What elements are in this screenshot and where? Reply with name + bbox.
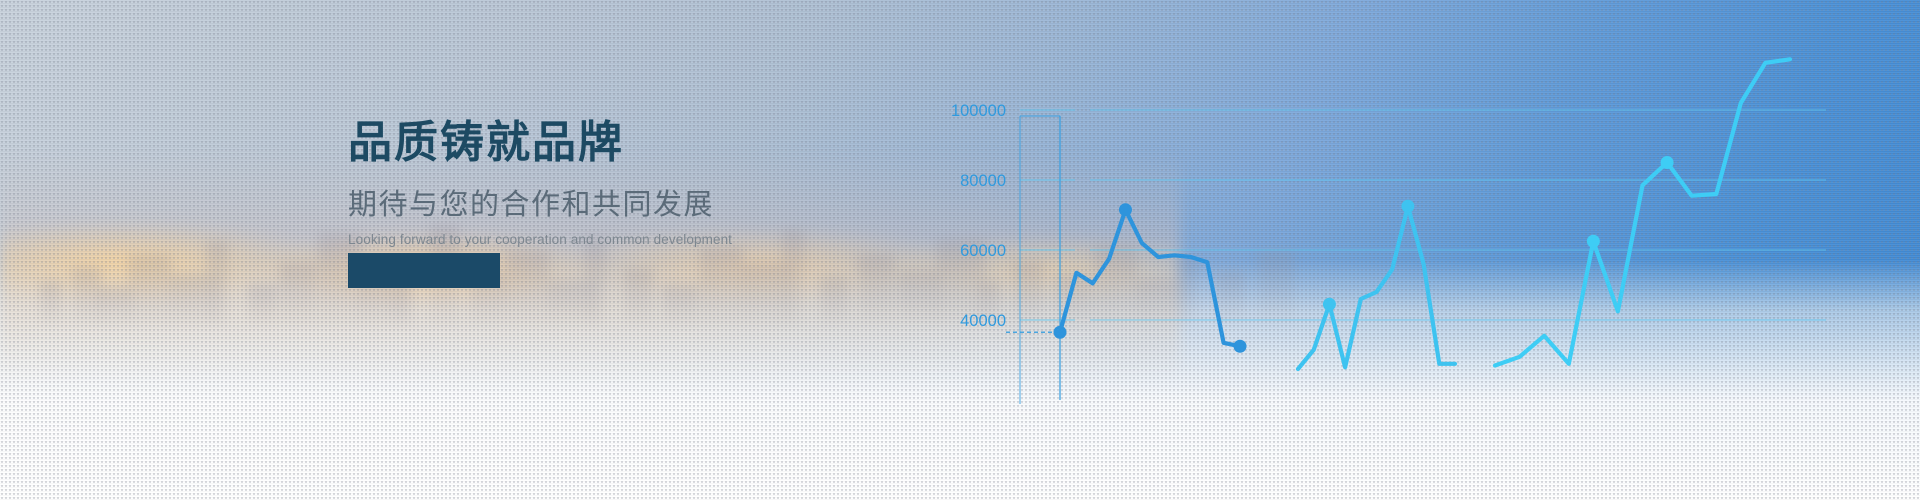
chart-data-point-marker	[1587, 235, 1600, 248]
page-subtitle: 期待与您的合作和共同发展	[348, 189, 768, 222]
chart-data-point-marker	[1661, 156, 1674, 169]
chart-y-tick-label: 80000	[960, 172, 1006, 190]
chart-y-tick-label: 60000	[960, 242, 1006, 260]
chart-data-point-marker	[1323, 298, 1336, 311]
hero-copy: 品质铸就品牌 期待与您的合作和共同发展 Looking forward to y…	[348, 118, 768, 248]
cta-button[interactable]	[348, 253, 500, 288]
chart-y-axis-labels: 100000800006000040000	[951, 102, 1006, 330]
hero-banner: 100000800006000040000 品质铸就品牌 期待与您的合作和共同发…	[0, 0, 1920, 500]
chart-axis	[1020, 116, 1060, 404]
chart-line-series-2	[1298, 206, 1455, 369]
page-title: 品质铸就品牌	[348, 118, 768, 167]
chart-y-tick-label: 40000	[960, 312, 1006, 330]
line-chart: 100000800006000040000	[0, 0, 1920, 500]
chart-data-point-marker	[1401, 200, 1414, 213]
chart-data-point-marker	[1119, 203, 1132, 216]
page-subtitle-english: Looking forward to your cooperation and …	[348, 232, 768, 248]
chart-data-point-marker	[1234, 340, 1247, 353]
chart-series-group	[1054, 59, 1791, 369]
chart-line-series-1	[1060, 210, 1240, 346]
chart-y-tick-label: 100000	[951, 102, 1006, 120]
chart-data-point-marker	[1054, 326, 1067, 339]
